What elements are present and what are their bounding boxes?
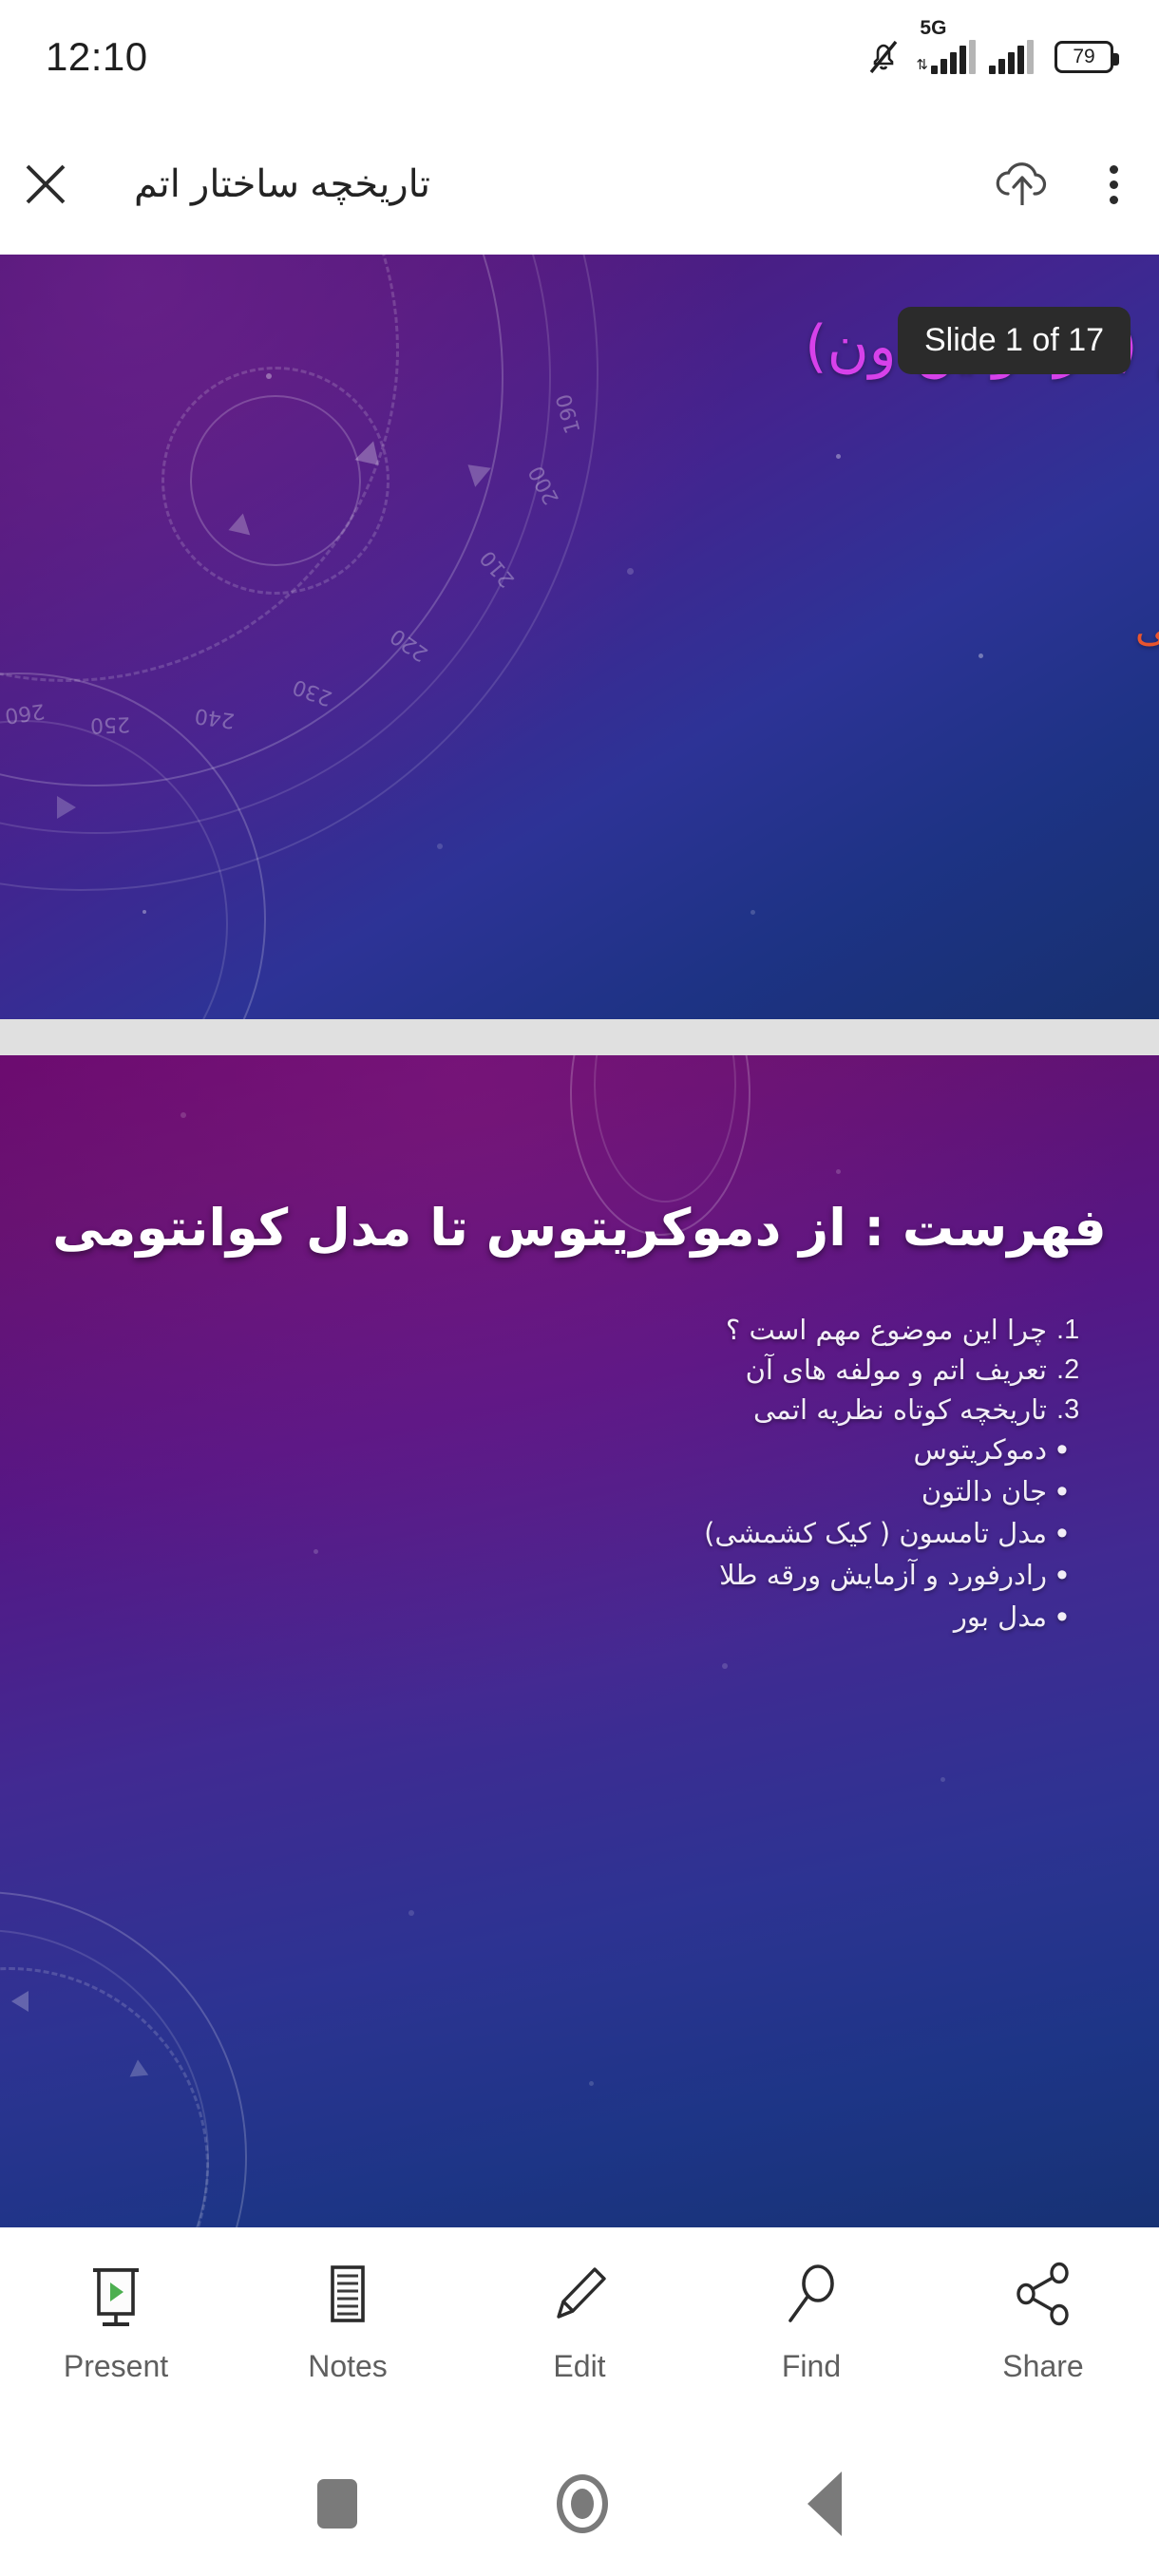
bell-mute-icon	[864, 36, 902, 78]
slide-2[interactable]: فهرست : از دموکریتوس تا مدل کوانتومی 1. …	[0, 1055, 1159, 2227]
list-item: • جان دالتون	[517, 1478, 1106, 1506]
deco-number: 210	[476, 545, 520, 591]
deco-number: 190	[552, 391, 585, 436]
phone-screen: 12:10 5G ⇅ 79	[0, 0, 1159, 2576]
notes-icon	[312, 2258, 384, 2330]
notes-button[interactable]: Notes	[253, 2258, 443, 2384]
share-label: Share	[1002, 2349, 1083, 2384]
list-marker: •	[1056, 1520, 1106, 1547]
list-item: • رادرفورد و آزمایش ورقه طلا	[517, 1562, 1106, 1589]
list-text: رادرفورد و آزمایش ورقه طلا	[719, 1559, 1047, 1591]
recents-button[interactable]	[317, 2479, 357, 2529]
system-nav-bar	[0, 2432, 1159, 2576]
list-marker: •	[1056, 1436, 1106, 1464]
list-marker: 1.	[1056, 1316, 1106, 1344]
bullet-list: • دموکریتوس • جان دالتون • مدل تامسون ( …	[517, 1436, 1106, 1631]
back-button[interactable]	[807, 2472, 842, 2536]
status-bar: 12:10 5G ⇅ 79	[0, 0, 1159, 114]
deco-number: 200	[524, 462, 564, 508]
list-text: جان دالتون	[921, 1475, 1047, 1507]
magnifier-icon	[775, 2258, 847, 2330]
deco-number: 230	[290, 674, 335, 710]
list-text: تعریف اتم و مولفه های آن	[746, 1354, 1047, 1386]
slide-2-content: 1. چرا این موضوع مهم است ؟ 2. تعریف اتم …	[517, 1316, 1106, 1645]
list-marker: •	[1056, 1603, 1106, 1631]
signal-5g-icon: 5G ⇅	[916, 40, 976, 74]
overflow-menu-button[interactable]	[1068, 139, 1159, 230]
close-icon	[20, 159, 71, 210]
present-label: Present	[64, 2349, 168, 2384]
share-icon	[1007, 2258, 1079, 2330]
close-button[interactable]	[0, 139, 91, 230]
slide-scroll-area[interactable]: 190 200 210 220 230 240 250 260	[0, 255, 1159, 2227]
list-item: 2. تعریف اتم و مولفه های آن	[517, 1356, 1106, 1384]
list-item: 3. تاریخچه کوتاه نظریه اتمی	[517, 1396, 1106, 1424]
list-item: • دموکریتوس	[517, 1436, 1106, 1464]
list-text: تاریخچه کوتاه نظریه اتمی	[753, 1393, 1047, 1426]
edit-button[interactable]: Edit	[484, 2258, 674, 2384]
home-button[interactable]	[557, 2474, 608, 2533]
list-marker: 2.	[1056, 1356, 1106, 1384]
battery-icon: 79	[1054, 41, 1113, 73]
slide-gap	[0, 1019, 1159, 1055]
find-label: Find	[782, 2349, 841, 2384]
bottom-toolbar: Present Notes	[0, 2227, 1159, 2432]
find-button[interactable]: Find	[716, 2258, 906, 2384]
cloud-upload-icon	[991, 156, 1054, 213]
overflow-menu-icon	[1110, 165, 1118, 204]
document-title: تاریخچه ساختار اتم	[91, 162, 430, 206]
slide-1-subtitle: شیمی	[97, 604, 1159, 651]
cloud-upload-button[interactable]	[977, 139, 1068, 230]
notes-label: Notes	[308, 2349, 388, 2384]
pencil-icon	[543, 2258, 616, 2330]
signal-icon	[989, 40, 1034, 74]
list-text: چرا این موضوع مهم است ؟	[726, 1314, 1047, 1346]
data-arrows-icon: ⇅	[916, 58, 928, 72]
list-marker: •	[1056, 1562, 1106, 1589]
list-item: • مدل تامسون ( کیک کشمشی)	[517, 1520, 1106, 1547]
present-icon	[80, 2258, 152, 2330]
deco-number: 240	[193, 703, 236, 732]
status-clock: 12:10	[46, 34, 148, 80]
numbered-list: 1. چرا این موضوع مهم است ؟ 2. تعریف اتم …	[517, 1316, 1106, 1424]
edit-label: Edit	[553, 2349, 605, 2384]
list-item: • مدل بور	[517, 1603, 1106, 1631]
deco-number: 250	[90, 711, 131, 736]
list-marker: •	[1056, 1478, 1106, 1506]
status-icons: 5G ⇅ 79	[864, 36, 1113, 78]
slide-counter-toast: Slide 1 of 17	[898, 307, 1130, 374]
list-text: مدل بور	[954, 1601, 1047, 1633]
app-bar: تاریخچه ساختار اتم	[0, 114, 1159, 255]
list-text: دموکریتوس	[914, 1433, 1047, 1466]
list-item: 1. چرا این موضوع مهم است ؟	[517, 1316, 1106, 1344]
list-text: مدل تامسون ( کیک کشمشی)	[704, 1517, 1047, 1549]
list-marker: 3.	[1056, 1396, 1106, 1424]
present-button[interactable]: Present	[21, 2258, 211, 2384]
deco-number: 260	[3, 698, 46, 728]
slide-2-title: فهرست : از دموکریتوس تا مدل کوانتومی	[38, 1198, 1121, 1258]
share-button[interactable]: Share	[948, 2258, 1138, 2384]
battery-level: 79	[1073, 46, 1094, 68]
